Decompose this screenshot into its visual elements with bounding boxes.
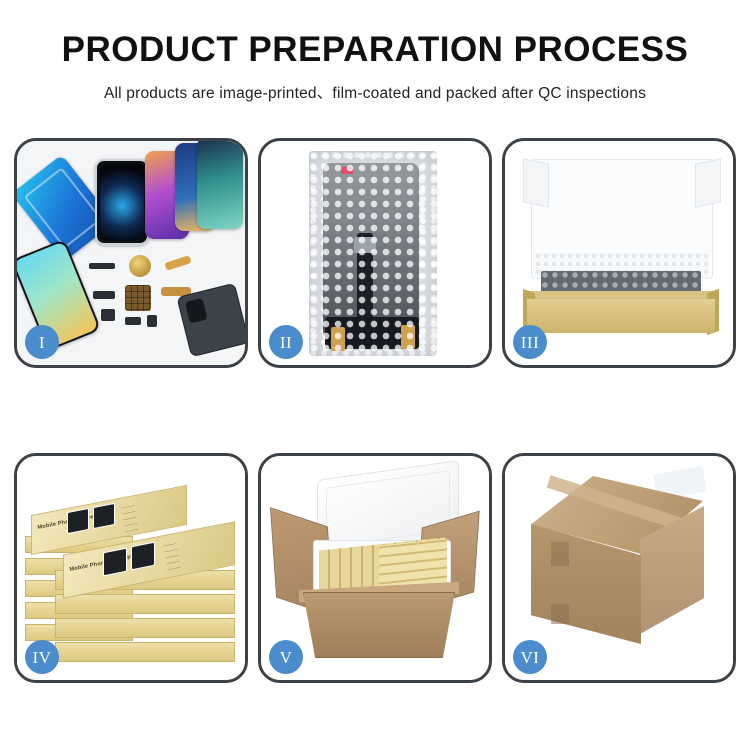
button-part	[125, 317, 141, 325]
screw-part	[147, 315, 157, 327]
box-window-screen	[67, 508, 89, 534]
step-badge-5: V	[269, 640, 303, 674]
step-badge-1: I	[25, 325, 59, 359]
process-step-grid: I II	[14, 138, 736, 683]
phone-screen-teal	[197, 141, 243, 229]
flex-cable-part	[164, 255, 191, 271]
process-step-5: V	[258, 453, 492, 683]
carton-front-panel	[303, 592, 455, 658]
step-badge-3: III	[513, 325, 547, 359]
chip-part	[125, 285, 151, 311]
gold-box-stack: Mobile Phone Spare Parts _______________…	[23, 474, 239, 666]
process-step-6: VI	[502, 453, 736, 683]
step-badge-2: II	[269, 325, 303, 359]
bracket-part	[93, 291, 115, 299]
box-window-screen	[131, 542, 155, 571]
phone-screen-black	[95, 159, 149, 245]
connector-part	[89, 263, 115, 269]
box-window-screen	[103, 548, 127, 577]
box-tray-front	[527, 299, 715, 333]
page-subtitle: All products are image-printed、film-coat…	[0, 81, 750, 103]
product-preparation-infographic: PRODUCT PREPARATION PROCESS All products…	[0, 0, 750, 750]
gold-box-side	[55, 594, 235, 614]
header: PRODUCT PREPARATION PROCESS All products…	[0, 0, 750, 103]
step-badge-4: IV	[25, 640, 59, 674]
process-step-1: I	[14, 138, 248, 368]
box-window-screen	[93, 503, 115, 529]
phone-back-plate-part	[176, 283, 245, 358]
process-step-2: II	[258, 138, 492, 368]
gold-box-side	[55, 618, 235, 638]
step-badge-6: VI	[513, 640, 547, 674]
camera-part	[101, 309, 115, 321]
carton-flap-seam	[551, 542, 569, 566]
box-lid-flap-left	[523, 158, 549, 208]
bubble-wrap-overlay	[309, 151, 437, 356]
process-step-4: Mobile Phone Spare Parts _______________…	[14, 453, 248, 683]
page-title: PRODUCT PREPARATION PROCESS	[0, 30, 750, 70]
box-lid-flap-right	[695, 158, 721, 208]
gold-box-side	[55, 642, 235, 662]
carton-flap-seam	[551, 604, 569, 624]
process-step-3: III	[502, 138, 736, 368]
spare-parts-cluster	[89, 253, 241, 353]
speaker-coil-part	[129, 255, 151, 277]
